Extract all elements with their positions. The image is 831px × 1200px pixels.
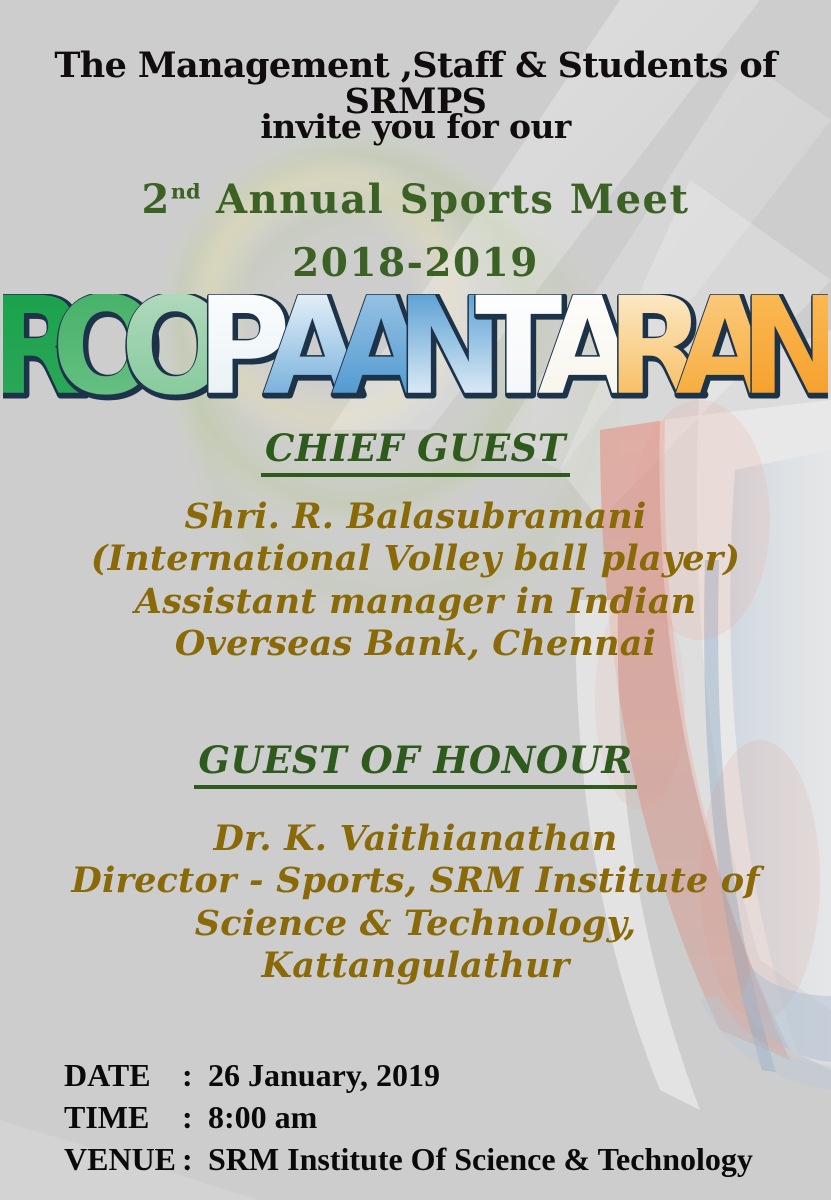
guest-of-honour-line: Kattangulathur (0, 945, 831, 987)
event-title-rest: Annual Sports Meet (201, 176, 690, 223)
roopaantaran-logo-svg: RROOOOPPAAAANNTTAARRAANN (3, 294, 828, 414)
guest-of-honour-details: Dr. K. Vaithianathan Director - Sports, … (0, 818, 831, 987)
roopaantaran-logo: RROOOOPPAAAANNTTAARRAANN (0, 294, 831, 414)
detail-colon: : (182, 1096, 208, 1138)
chief-guest-details: Shri. R. Balasubramani (International Vo… (0, 496, 831, 665)
detail-label: TIME (64, 1096, 182, 1138)
poster-content: The Management ,Staff & Students of SRMP… (0, 0, 831, 1200)
detail-label: DATE (64, 1054, 182, 1096)
detail-row-venue: VENUE : SRM Institute Of Science & Techn… (64, 1138, 753, 1180)
detail-colon: : (182, 1138, 208, 1180)
guest-of-honour-heading: GUEST OF HONOUR (0, 738, 831, 782)
event-details: DATE : 26 January, 2019 TIME : 8:00 am V… (64, 1054, 753, 1181)
invitation-poster: The Management ,Staff & Students of SRMP… (0, 0, 831, 1200)
invite-line-2: invite you for our (0, 110, 831, 144)
chief-guest-line: Shri. R. Balasubramani (0, 496, 831, 538)
detail-row-date: DATE : 26 January, 2019 (64, 1054, 753, 1096)
event-ordinal: 2 (142, 176, 171, 223)
detail-label: VENUE (64, 1138, 182, 1180)
event-years: 2018-2019 (0, 240, 831, 286)
guest-of-honour-line: Science & Technology, (0, 903, 831, 945)
chief-guest-heading: CHIEF GUEST (0, 426, 831, 470)
event-title: 2nd Annual Sports Meet (0, 176, 831, 223)
guest-of-honour-line: Director - Sports, SRM Institute of (0, 860, 831, 902)
chief-guest-line: (International Volley ball player) (0, 538, 831, 580)
chief-guest-line: Overseas Bank, Chennai (0, 623, 831, 665)
guest-of-honour-line: Dr. K. Vaithianathan (0, 818, 831, 860)
guest-of-honour-heading-text: GUEST OF HONOUR (194, 738, 636, 789)
detail-row-time: TIME : 8:00 am (64, 1096, 753, 1138)
detail-value: 8:00 am (208, 1096, 317, 1138)
logo-letter: N (740, 294, 828, 414)
chief-guest-heading-text: CHIEF GUEST (261, 426, 570, 477)
detail-value: 26 January, 2019 (208, 1054, 440, 1096)
event-ordinal-suffix: nd (171, 179, 201, 204)
detail-colon: : (182, 1054, 208, 1096)
chief-guest-line: Assistant manager in Indian (0, 581, 831, 623)
detail-value: SRM Institute Of Science & Technology (208, 1138, 753, 1180)
